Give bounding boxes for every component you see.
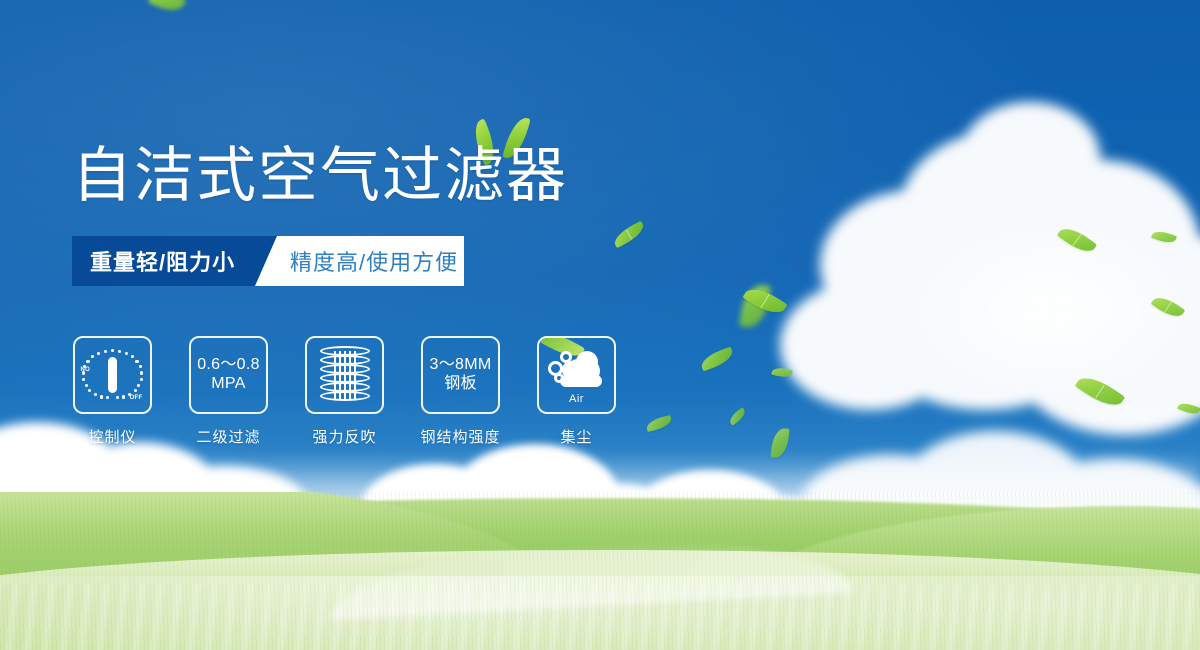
dial-no-label: NO — [81, 367, 91, 373]
tagline-left-text: 重量轻/阻力小 — [90, 236, 235, 286]
feature-item-dust[interactable]: Air 集尘 — [536, 336, 617, 447]
banner-stage: 自洁式空气过滤器 重量轻/阻力小 精度高/使用方便 — [0, 0, 1200, 650]
feature-icon-box: NO OFF — [73, 336, 152, 414]
feature-item-steel[interactable]: 3～8MM 钢板 钢结构强度 — [420, 336, 501, 447]
dial-off-label: OFF — [130, 395, 143, 401]
feature-item-control[interactable]: NO OFF 控制仪 — [72, 336, 153, 447]
feature-item-blowback[interactable]: 强力反吹 — [304, 336, 385, 447]
pressure-text-icon: 0.6～0.8 MPA — [197, 356, 260, 394]
feature-caption: 二级过滤 — [196, 426, 260, 447]
feature-icon-box: Air — [537, 336, 616, 414]
tagline-right-text: 精度高/使用方便 — [290, 236, 458, 286]
pressure-unit: MPA — [197, 375, 260, 394]
grass-ground — [0, 492, 1200, 650]
tagline-badge: 重量轻/阻力小 精度高/使用方便 — [72, 236, 464, 286]
air-cloud-icon: Air — [546, 347, 608, 403]
feature-icon-box — [305, 336, 384, 414]
feature-icon-box: 3～8MM 钢板 — [421, 336, 500, 414]
feature-list: NO OFF 控制仪 0.6～0.8 MPA 二级过滤 — [72, 336, 617, 447]
steel-material: 钢板 — [430, 375, 492, 394]
feature-icon-box: 0.6～0.8 MPA — [189, 336, 268, 414]
feature-caption: 控制仪 — [88, 426, 136, 447]
steel-thickness: 3～8MM — [430, 356, 492, 373]
steel-plate-text-icon: 3～8MM 钢板 — [430, 356, 492, 394]
feature-caption: 集尘 — [560, 426, 592, 447]
feature-item-pressure[interactable]: 0.6～0.8 MPA 二级过滤 — [188, 336, 269, 447]
cloud-haze-right — [840, 180, 1200, 440]
control-dial-icon: NO OFF — [81, 345, 145, 405]
grass-texture — [0, 492, 1200, 650]
air-label: Air — [546, 393, 608, 405]
feature-caption: 强力反吹 — [312, 426, 376, 447]
coil-spring-icon — [320, 346, 370, 404]
pressure-value: 0.6～0.8 — [197, 356, 260, 373]
feature-caption: 钢结构强度 — [420, 426, 500, 447]
page-title: 自洁式空气过滤器 — [72, 146, 568, 206]
